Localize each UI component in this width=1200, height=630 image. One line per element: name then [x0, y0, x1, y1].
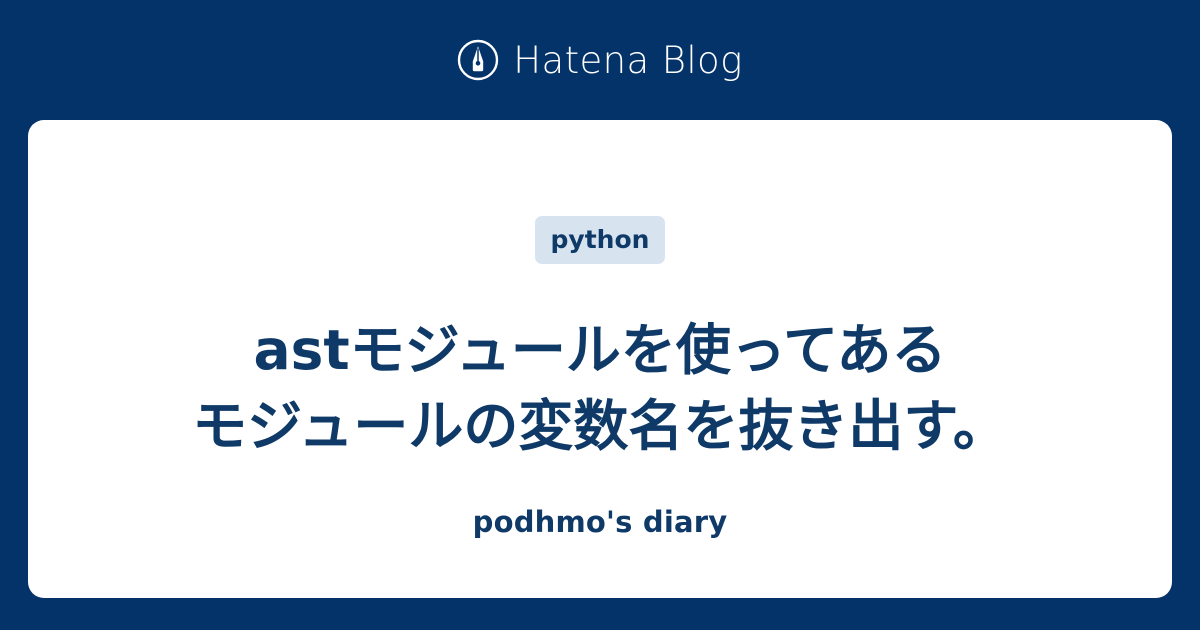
og-image-canvas: Hatena Blog python astモジュールを使ってある モジュールの… — [0, 0, 1200, 630]
brand-name: Hatena Blog — [513, 42, 742, 79]
blog-name: podhmo's diary — [28, 508, 1172, 537]
category-tag-python[interactable]: python — [535, 216, 666, 264]
hatena-blog-brand: Hatena Blog — [0, 0, 1200, 120]
entry-title-line-2: モジュールの変数名を抜き出す。 — [192, 394, 1008, 458]
entry-title: astモジュールを使ってある モジュールの変数名を抜き出す。 — [88, 312, 1112, 464]
entry-title-line-1: astモジュールを使ってある — [254, 318, 947, 382]
entry-card-inner: python astモジュールを使ってある モジュールの変数名を抜き出す。 po… — [28, 120, 1172, 598]
entry-card: python astモジュールを使ってある モジュールの変数名を抜き出す。 po… — [28, 120, 1172, 598]
pen-nib-circle-icon — [457, 39, 499, 81]
category-tag-row: python — [28, 216, 1172, 264]
